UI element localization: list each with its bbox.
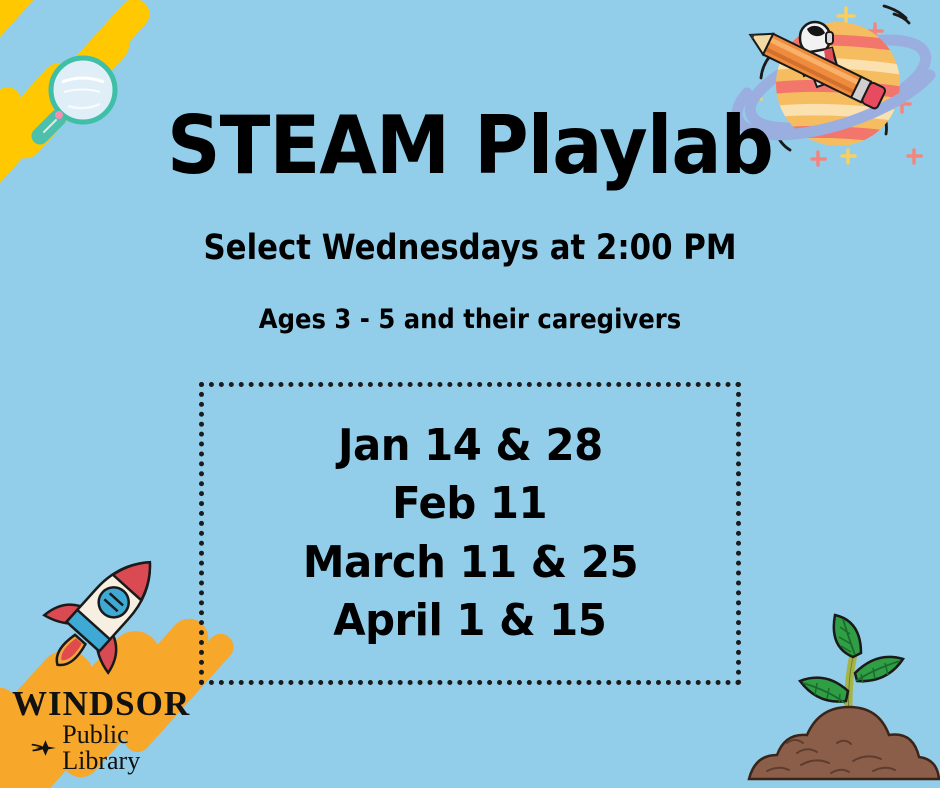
poster-title: STEAM Playlab [33, 106, 907, 186]
dates-box: Jan 14 & 28 Feb 11 March 11 & 25 April 1… [199, 382, 741, 685]
date-line: Feb 11 [392, 481, 547, 527]
rocket-icon [30, 537, 180, 692]
logo-subtitle: Public Library [62, 722, 192, 774]
windsor-public-library-logo: WINDSOR Public Library [12, 686, 192, 774]
date-line: March 11 & 25 [302, 540, 637, 586]
date-line: Jan 14 & 28 [338, 423, 603, 469]
logo-wordmark: WINDSOR [12, 686, 192, 721]
date-line: April 1 & 15 [333, 598, 606, 644]
poster-subtitle: Select Wednesdays at 2:00 PM [56, 231, 883, 266]
poster-canvas: STEAM Playlab Select Wednesdays at 2:00 … [0, 0, 940, 788]
star-icon [30, 737, 59, 759]
logo-sub-row: Public Library [30, 722, 192, 774]
seedling-plant-icon [745, 593, 940, 788]
poster-audience-line: Ages 3 - 5 and their caregivers [47, 306, 893, 333]
